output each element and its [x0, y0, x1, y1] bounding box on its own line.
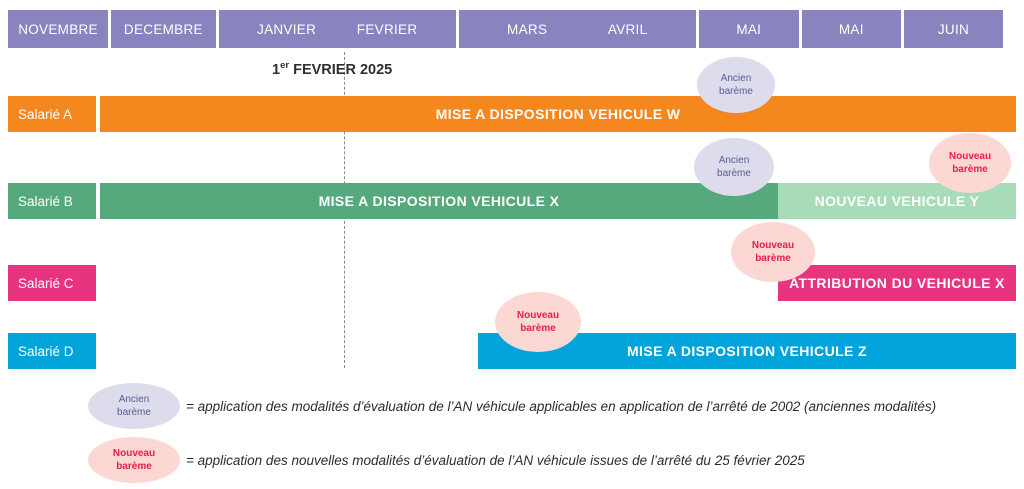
month-label: MAI: [736, 22, 761, 37]
badge-nouveau-bareme: Nouveaubarème: [495, 292, 581, 352]
badge-nouveau-bareme: Nouveaubarème: [929, 133, 1011, 193]
badge-ancien-bareme: Ancienbarème: [697, 57, 775, 113]
month-label: MAI: [839, 22, 864, 37]
row-label-salarie-c[interactable]: Salarié C: [8, 265, 96, 301]
badge-line-2: barème: [952, 163, 988, 177]
month-label: NOVEMBRE: [18, 22, 98, 37]
badge-line-2: barème: [755, 252, 791, 266]
badge-line-2: barème: [717, 167, 751, 181]
month-cell-mars-avril: MARSAVRIL: [459, 10, 696, 48]
marker-superscript: er: [280, 60, 289, 71]
legend-badge-line-2: barème: [117, 406, 151, 420]
marker-prefix: 1: [272, 62, 280, 78]
date-marker-label: 1er FEVRIER 2025: [272, 60, 392, 78]
timeline-chart: NOVEMBREDECEMBREJANVIERFEVRIERMARSAVRILM…: [0, 0, 1024, 489]
legend-badge-line-1: Ancien: [119, 393, 150, 407]
legend-badge-ancien: Ancienbarème: [88, 383, 180, 429]
month-cell-decembre: DECEMBRE: [111, 10, 216, 48]
legend-item-ancien: Ancienbarème= application des modalités …: [88, 383, 936, 429]
timeline-row-salarie-b: Salarié BMISE A DISPOSITION VEHICULE XNO…: [0, 183, 1024, 219]
month-cell-mai: MAI: [699, 10, 799, 48]
month-label: MARS: [507, 22, 547, 37]
legend-description: = application des nouvelles modalités d’…: [186, 453, 805, 468]
month-header: NOVEMBREDECEMBREJANVIERFEVRIERMARSAVRILM…: [8, 10, 1003, 48]
month-label: FEVRIER: [357, 22, 418, 37]
badge-line-2: barème: [520, 322, 556, 336]
badge-line-2: barème: [719, 85, 753, 99]
legend-item-nouveau: Nouveaubarème= application des nouvelles…: [88, 437, 805, 483]
month-label: AVRIL: [608, 22, 648, 37]
month-cell-janvier-fevrier: JANVIERFEVRIER: [219, 10, 456, 48]
badge-line-1: Ancien: [721, 72, 752, 86]
month-label: JANVIER: [257, 22, 316, 37]
month-label: JUIN: [938, 22, 969, 37]
badge-line-1: Nouveau: [752, 239, 794, 253]
bar-salarie-b-1[interactable]: MISE A DISPOSITION VEHICULE X: [100, 183, 778, 219]
month-cell-mai: MAI: [802, 10, 901, 48]
badge-line-1: Ancien: [719, 154, 750, 168]
month-cell-juin: JUIN: [904, 10, 1003, 48]
row-label-salarie-d[interactable]: Salarié D: [8, 333, 96, 369]
badge-nouveau-bareme: Nouveaubarème: [731, 222, 815, 282]
badge-line-1: Nouveau: [517, 309, 559, 323]
bar-salarie-a-1[interactable]: MISE A DISPOSITION VEHICULE W: [100, 96, 1016, 132]
row-label-salarie-a[interactable]: Salarié A: [8, 96, 96, 132]
legend-badge-nouveau: Nouveaubarème: [88, 437, 180, 483]
timeline-row-salarie-c: Salarié CATTRIBUTION DU VEHICULE X: [0, 265, 1024, 301]
badge-ancien-bareme: Ancienbarème: [694, 138, 774, 196]
legend-badge-line-2: barème: [116, 460, 152, 474]
bar-salarie-c-1[interactable]: ATTRIBUTION DU VEHICULE X: [778, 265, 1016, 301]
legend-badge-line-1: Nouveau: [113, 447, 155, 461]
month-label: DECEMBRE: [124, 22, 203, 37]
row-label-salarie-b[interactable]: Salarié B: [8, 183, 96, 219]
timeline-row-salarie-a: Salarié AMISE A DISPOSITION VEHICULE W: [0, 96, 1024, 132]
month-cell-novembre: NOVEMBRE: [8, 10, 108, 48]
badge-line-1: Nouveau: [949, 150, 991, 164]
legend-description: = application des modalités d’évaluation…: [186, 399, 936, 414]
marker-rest: FEVRIER 2025: [289, 62, 392, 78]
